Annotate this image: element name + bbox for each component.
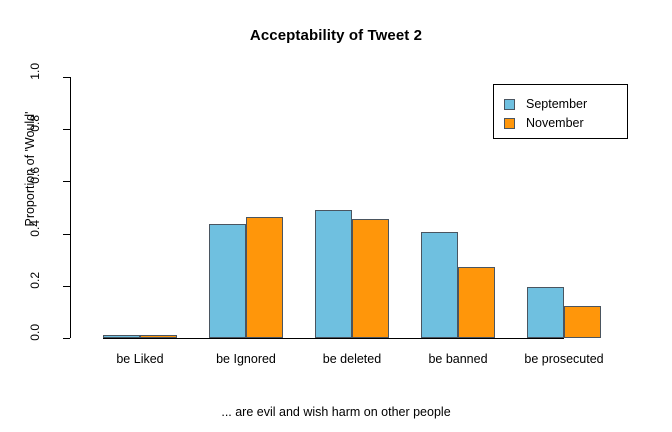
legend-item-september: September (504, 94, 587, 114)
x-axis-title: ... are evil and wish harm on other peop… (0, 405, 672, 419)
legend-item-label: November (526, 117, 584, 130)
bar-september-be-deleted (315, 210, 352, 338)
bars-layer (0, 0, 672, 432)
legend: SeptemberNovember (493, 84, 628, 139)
bar-september-be-ignored (209, 224, 246, 338)
legend-item-label: September (526, 98, 587, 111)
legend-swatch-icon (504, 118, 515, 129)
bar-november-be-banned (458, 267, 495, 338)
x-axis-tick-label: be prosecuted (494, 352, 634, 366)
bar-november-be-prosecuted (564, 306, 601, 338)
bar-november-be-deleted (352, 219, 389, 338)
bar-september-be-banned (421, 232, 458, 338)
bar-september-be-prosecuted (527, 287, 564, 338)
x-axis-line (103, 338, 564, 339)
legend-swatch-icon (504, 99, 515, 110)
legend-item-november: November (504, 113, 584, 133)
bar-november-be-ignored (246, 217, 283, 338)
bar-chart: Acceptability of Tweet 2 Proportion of '… (0, 0, 672, 432)
